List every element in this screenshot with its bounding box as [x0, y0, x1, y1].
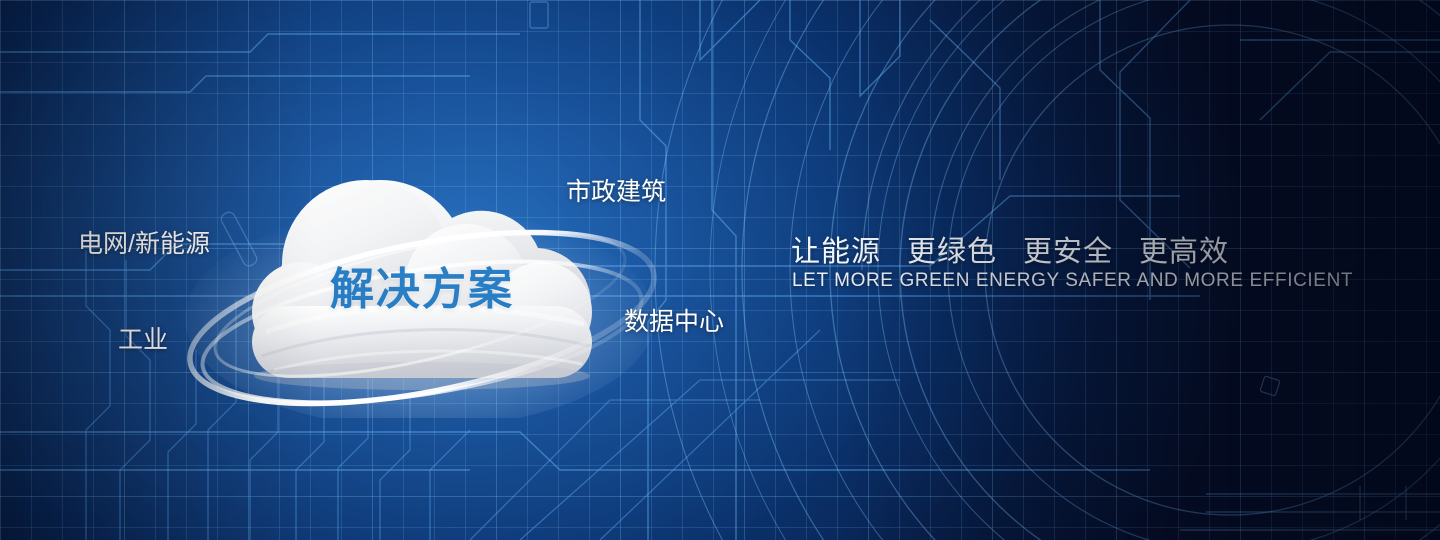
slogan-headline: 让能源更绿色更安全更高效: [791, 228, 1229, 270]
label-grid-new-energy: 电网/新能源: [78, 224, 210, 260]
slogan-subtitle-english: LET MORE GREEN ENERGY SAFER AND MORE EFF…: [792, 270, 1353, 292]
slogan-part-2: 更绿色: [907, 236, 997, 268]
label-municipal: 市政建筑: [566, 172, 666, 208]
solution-title: 解决方案: [330, 253, 514, 317]
label-industry: 工业: [118, 320, 168, 356]
slogan-part-1: 让能源: [791, 236, 881, 268]
slogan-part-4: 更高效: [1139, 236, 1229, 268]
hero-banner: 解决方案 电网/新能源 工业 市政建筑 数据中心 让能源更绿色更安全更高效 LE…: [0, 0, 1440, 540]
slogan-part-3: 更安全: [1023, 236, 1113, 268]
label-data-center: 数据中心: [624, 302, 724, 338]
